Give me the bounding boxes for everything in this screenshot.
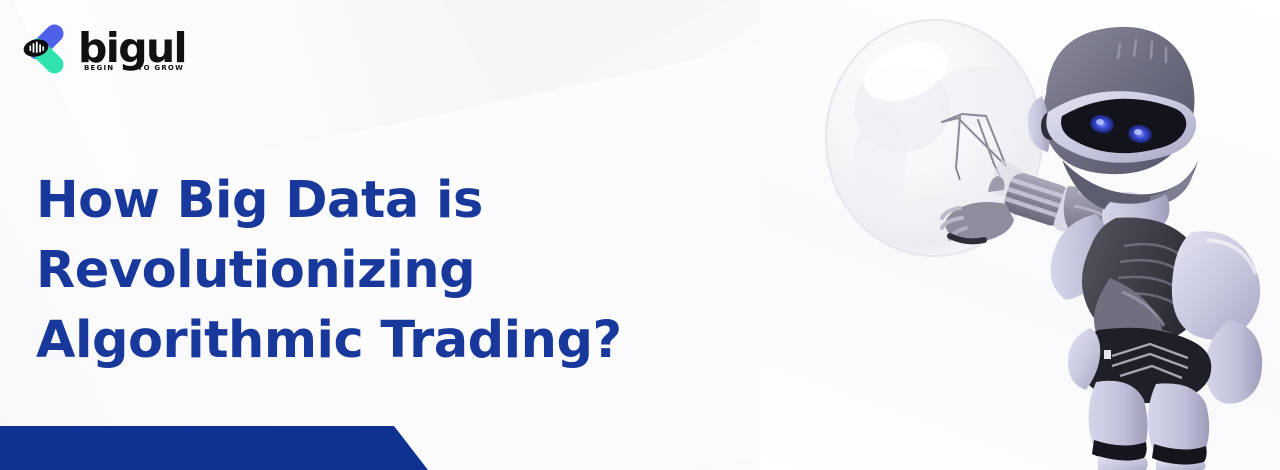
headline-line-1: How Big Data is — [36, 166, 622, 236]
brand-wordmark: bigul BEGIN TO GROW — [78, 28, 186, 69]
robot-holding-lightbulb-illustration — [810, 0, 1280, 470]
headline-line-3: Algorithmic Trading? — [36, 306, 622, 376]
page-title: How Big Data is Revolutionizing Algorith… — [36, 166, 622, 376]
tagline-left: BEGIN — [84, 65, 114, 72]
accent-band — [0, 426, 428, 470]
headline-line-2: Revolutionizing — [36, 236, 622, 306]
tagline-right: TO GROW — [138, 65, 184, 72]
brand-tagline: BEGIN TO GROW — [80, 65, 188, 72]
bigul-arrow-chart-logo-icon — [20, 22, 72, 74]
brand-logo[interactable]: bigul BEGIN TO GROW — [20, 22, 186, 74]
brand-name: bigul — [78, 28, 186, 69]
promo-banner: bigul BEGIN TO GROW How Big Data is Revo… — [0, 0, 1280, 470]
